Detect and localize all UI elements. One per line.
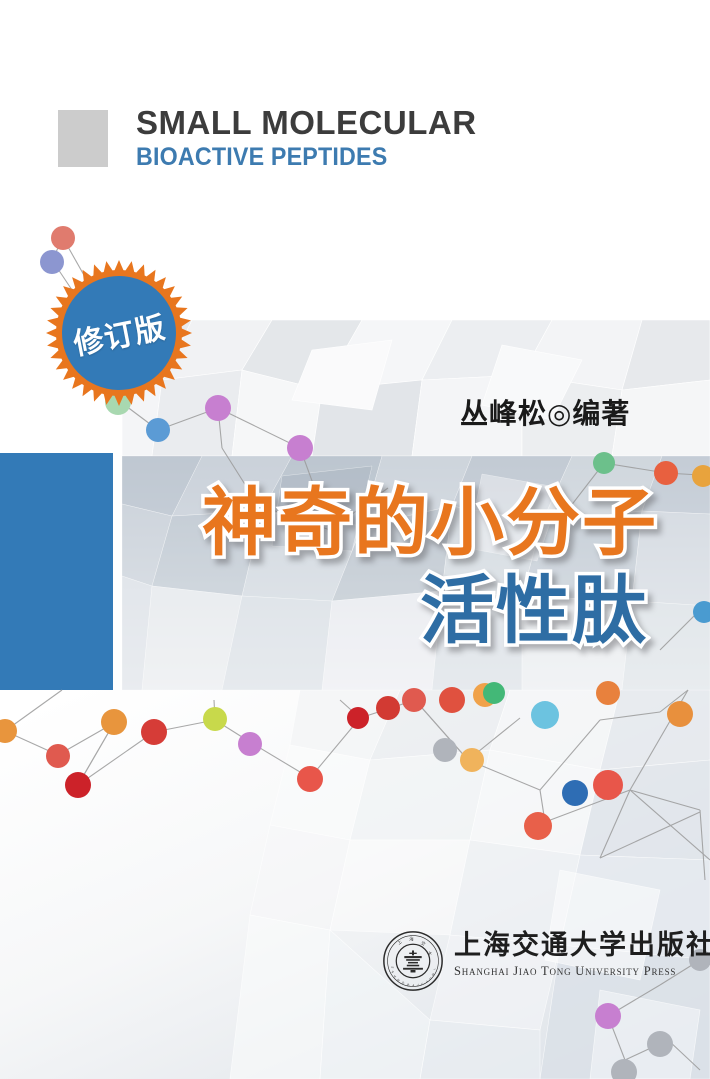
background-polygon-strip-top (122, 320, 710, 456)
university-seal-icon: 上 海 交 大 S H A N G H A I J T U N I (382, 930, 444, 992)
svg-text:N: N (396, 978, 400, 982)
book-cover: SMALL MOLECULAR BIOACTIVE PEPTIDES (0, 0, 710, 1079)
svg-text:I: I (417, 983, 419, 987)
svg-text:I: I (432, 968, 436, 970)
svg-text:海: 海 (409, 936, 414, 943)
main-title-line-1: 神奇的小分子 (0, 486, 710, 560)
publisher-name-en: Shanghai Jiao Tong University Press (454, 964, 710, 979)
svg-text:H: H (407, 982, 410, 986)
author-byline: 丛峰松◎编著 (460, 392, 630, 432)
english-title-block: SMALL MOLECULAR BIOACTIVE PEPTIDES (58, 105, 618, 185)
svg-text:A: A (412, 983, 414, 987)
svg-text:U: U (428, 976, 432, 980)
english-title-primary: SMALL MOLECULAR (136, 105, 477, 141)
accent-square-icon (58, 110, 108, 167)
background-polygon-panel-lower (0, 690, 710, 1079)
badge-label: 修订版 (31, 245, 207, 421)
publisher-name-cn: 上海交通大学出版社 (454, 932, 710, 960)
revised-edition-badge: 修订版 (44, 258, 194, 408)
svg-text:J: J (420, 981, 424, 985)
english-title-secondary: BIOACTIVE PEPTIDES (136, 144, 453, 172)
publisher-block: 上 海 交 大 S H A N G H A I J T U N I 上 (382, 928, 640, 1008)
svg-text:H: H (391, 970, 396, 974)
svg-text:A: A (393, 974, 397, 978)
main-title-block: 神奇的小分子 活性肽 (0, 486, 710, 648)
svg-text:S: S (390, 966, 394, 969)
main-title-line-2: 活性肽 (0, 574, 710, 648)
